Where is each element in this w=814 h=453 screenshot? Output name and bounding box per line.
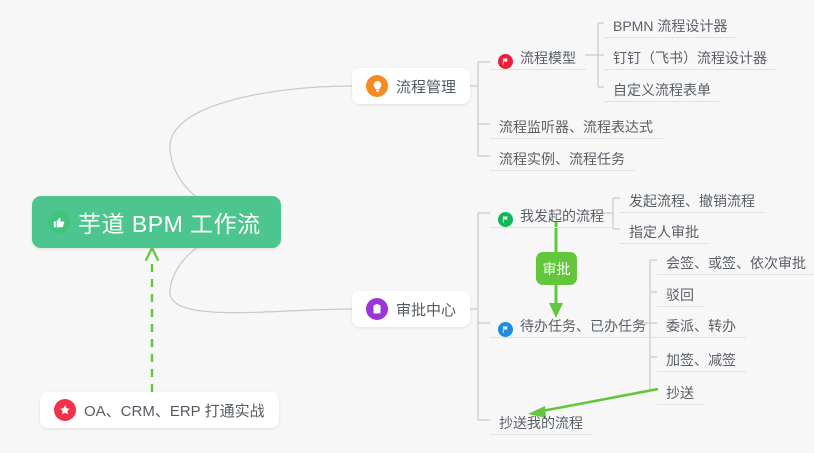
bottom-node-integration[interactable]: OA、CRM、ERP 打通实战 bbox=[40, 392, 279, 428]
annotation-label-text: 审批 bbox=[543, 259, 571, 279]
node-label: 我发起的流程 bbox=[520, 209, 604, 227]
node-assigned-approval[interactable]: 指定人审批 bbox=[620, 214, 709, 244]
node-todo-done-tasks[interactable]: 待办任务、已办任务 bbox=[490, 308, 656, 338]
node-label: 抄送 bbox=[666, 386, 694, 404]
node-label: 会签、或签、依次审批 bbox=[666, 256, 806, 274]
branch-node-process-management[interactable]: 流程管理 bbox=[352, 68, 470, 104]
node-my-initiated-processes[interactable]: 我发起的流程 bbox=[490, 198, 614, 228]
node-custom-form[interactable]: 自定义流程表单 bbox=[604, 72, 721, 102]
node-reject[interactable]: 驳回 bbox=[657, 277, 704, 307]
root-node[interactable]: 芋道 BPM 工作流 bbox=[32, 196, 281, 248]
node-label: 待办任务、已办任务 bbox=[520, 319, 646, 337]
node-label: 钉钉（飞书）流程设计器 bbox=[613, 51, 767, 69]
lightbulb-icon bbox=[366, 75, 388, 97]
node-label: 委派、转办 bbox=[666, 319, 736, 337]
flag-icon bbox=[498, 322, 513, 337]
branch-label: 审批中心 bbox=[396, 299, 456, 320]
branch-label: 流程管理 bbox=[396, 76, 456, 97]
node-label: 自定义流程表单 bbox=[613, 83, 711, 101]
annotation-approval-label: 审批 bbox=[536, 252, 577, 285]
clipboard-icon bbox=[366, 298, 388, 320]
thumbs-up-icon bbox=[48, 211, 70, 233]
bottom-node-label: OA、CRM、ERP 打通实战 bbox=[84, 400, 265, 421]
node-countersign[interactable]: 会签、或签、依次审批 bbox=[657, 245, 814, 275]
node-process-listener[interactable]: 流程监听器、流程表达式 bbox=[490, 109, 663, 139]
node-label: 加签、减签 bbox=[666, 353, 736, 371]
node-process-instance[interactable]: 流程实例、流程任务 bbox=[490, 141, 635, 171]
node-label: 指定人审批 bbox=[629, 225, 699, 243]
node-process-model[interactable]: 流程模型 bbox=[490, 40, 586, 70]
node-cc-to-me-processes[interactable]: 抄送我的流程 bbox=[490, 405, 593, 435]
flag-icon bbox=[498, 54, 513, 69]
root-label: 芋道 BPM 工作流 bbox=[78, 205, 261, 239]
mindmap-canvas: 芋道 BPM 工作流 流程管理 流程模型 BPMN 流程设计器 钉钉（飞书）流程… bbox=[0, 0, 814, 453]
node-label: 驳回 bbox=[666, 288, 694, 306]
node-label: 流程模型 bbox=[520, 51, 576, 69]
branch-node-approval-center[interactable]: 审批中心 bbox=[352, 291, 470, 327]
node-label: 流程监听器、流程表达式 bbox=[499, 120, 653, 138]
node-label: 流程实例、流程任务 bbox=[499, 152, 625, 170]
node-label: BPMN 流程设计器 bbox=[613, 19, 727, 37]
node-add-remove-sign[interactable]: 加签、减签 bbox=[657, 342, 746, 372]
node-start-cancel-process[interactable]: 发起流程、撤销流程 bbox=[620, 183, 765, 213]
star-icon bbox=[54, 399, 76, 421]
node-label: 抄送我的流程 bbox=[499, 416, 583, 434]
node-bpmn-designer[interactable]: BPMN 流程设计器 bbox=[604, 8, 737, 38]
node-dingtalk-designer[interactable]: 钉钉（飞书）流程设计器 bbox=[604, 40, 777, 70]
node-delegate-transfer[interactable]: 委派、转办 bbox=[657, 308, 746, 338]
flag-icon bbox=[498, 212, 513, 227]
node-label: 发起流程、撤销流程 bbox=[629, 194, 755, 212]
node-cc[interactable]: 抄送 bbox=[657, 375, 704, 405]
